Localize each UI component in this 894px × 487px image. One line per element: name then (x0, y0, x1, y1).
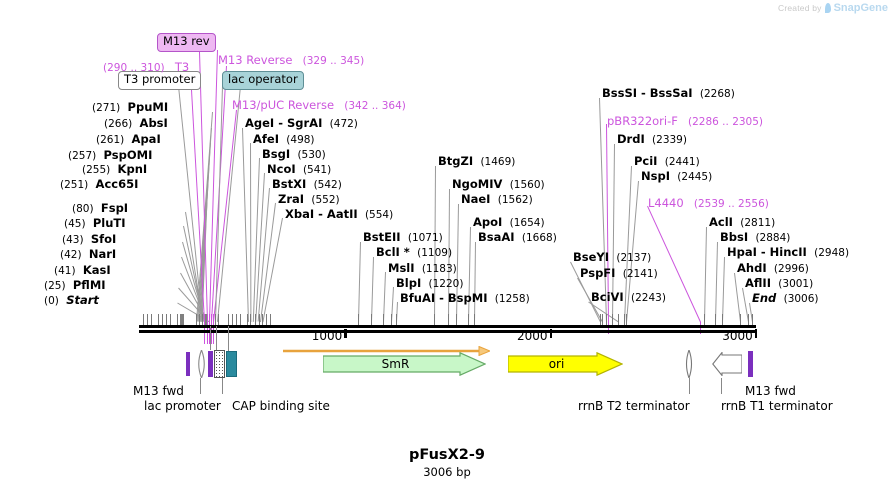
enzyme-name: AclI (709, 215, 733, 229)
plasmid-name: pFusX2-9 (0, 447, 894, 463)
enzyme-position: (2996) (774, 263, 809, 275)
enzyme-name: ApoI (473, 215, 502, 229)
leader-line (722, 257, 725, 322)
enzyme-position: (2141) (623, 268, 658, 280)
enzyme-site-bbsi[interactable]: BbsI (2884) (720, 232, 790, 244)
cap-binding-site-label[interactable]: CAP binding site (232, 399, 330, 413)
enzyme-site-pspomi[interactable]: (257) PspOMI (68, 150, 152, 162)
enzyme-name: PpuMI (128, 100, 169, 114)
feature-connector (721, 378, 722, 394)
enzyme-site-ahdi[interactable]: AhdI (2996) (737, 263, 809, 275)
enzyme-position: (554) (365, 209, 393, 221)
enzyme-site-fspi[interactable]: (80) FspI (72, 203, 128, 215)
enzyme-name: NaeI (461, 192, 490, 206)
enzyme-position: (542) (314, 179, 342, 191)
ruler-label: 2000 (514, 329, 548, 343)
leader-line (178, 86, 203, 322)
enzyme-name: NspI (641, 169, 670, 183)
enzyme-name: AhdI (737, 261, 767, 275)
plasmid-map-canvas: Created by SnapGene M13 revT3 promoterla… (0, 0, 894, 487)
enzyme-site-pluti[interactable]: (45) PluTI (64, 218, 126, 230)
enzyme-name: SfoI (91, 232, 116, 246)
enzyme-name: BclI * (376, 245, 410, 259)
enzyme-position: (552) (311, 194, 339, 206)
enzyme-name: KpnI (118, 162, 148, 176)
enzyme-site-bseyi[interactable]: BseYI (2137) (573, 252, 651, 264)
enzyme-site-nari[interactable]: (42) NarI (60, 249, 116, 261)
gene-label: SmR (323, 352, 486, 376)
enzyme-site-start[interactable]: (0) Start (44, 295, 99, 307)
enzyme-name: BssSI - BssSaI (602, 86, 693, 100)
enzyme-site-acc65i[interactable]: (251) Acc65I (60, 179, 138, 191)
enzyme-position: (41) (54, 265, 76, 277)
rrnb-t2-terminator-label[interactable]: rrnB T2 terminator (578, 399, 690, 413)
leader-line (704, 227, 707, 322)
enzyme-site-absi[interactable]: (266) AbsI (104, 118, 168, 130)
feature-bar-glyph[interactable] (186, 352, 190, 376)
enzyme-name: AflII (745, 276, 771, 290)
enzyme-site-bsssi-bsssai[interactable]: BssSI - BssSaI (2268) (602, 88, 735, 100)
enzyme-position: (1668) (522, 232, 557, 244)
smr-orf-arrow[interactable] (283, 341, 490, 351)
feature-connector (200, 378, 201, 394)
enzyme-site-bcivi[interactable]: BciVI (2243) (591, 292, 666, 304)
enzyme-position: (530) (297, 149, 325, 161)
leader-line (468, 227, 471, 322)
enzyme-position: (261) (96, 134, 124, 146)
enzyme-name: FspI (101, 201, 128, 215)
feature-bar-glyph[interactable] (208, 351, 213, 377)
feature-tag-label: lac operator (228, 72, 298, 86)
enzyme-position: (2948) (814, 247, 849, 259)
enzyme-position: (2884) (755, 232, 790, 244)
enzyme-name: BsaAI (478, 230, 515, 244)
enzyme-site-bfuai-bspmi[interactable]: BfuAI - BspMI (1258) (400, 293, 530, 305)
enzyme-position: (271) (92, 102, 120, 114)
smr-gene[interactable]: SmR (323, 352, 486, 376)
enzyme-name: BtgZI (438, 154, 473, 168)
enzyme-site-bcli[interactable]: BclI * (1109) (376, 247, 452, 259)
enzyme-name: BbsI (720, 230, 748, 244)
ruler-tick (755, 329, 758, 338)
snapgene-leaf-icon (825, 3, 831, 13)
enzyme-name: DrdI (617, 132, 645, 146)
feature-connector (216, 326, 217, 350)
enzyme-site-apai[interactable]: (261) ApaI (96, 134, 161, 146)
enzyme-site-btgzi[interactable]: BtgZI (1469) (438, 156, 515, 168)
enzyme-site-pflmi[interactable]: (25) PflMI (44, 280, 106, 292)
enzyme-site-acli[interactable]: AclI (2811) (709, 217, 775, 229)
enzyme-name: End (752, 291, 776, 305)
primer-name: M13 Reverse (218, 53, 292, 67)
enzyme-name: AbsI (140, 116, 168, 130)
lac-promoter-label[interactable]: lac promoter (144, 399, 221, 413)
enzyme-site-aflii[interactable]: AflII (3001) (745, 278, 813, 290)
enzyme-site-end[interactable]: End (3006) (752, 293, 819, 305)
enzyme-site-bstxi[interactable]: BstXI (542) (272, 179, 342, 191)
leader-line (588, 302, 619, 323)
enzyme-position: (1469) (480, 156, 515, 168)
ruler-label: 3000 (719, 329, 753, 343)
enzyme-position: (1562) (498, 194, 533, 206)
gene-label: ori (508, 352, 623, 376)
m13-puc-reverse-primer[interactable]: M13/pUC Reverse (342 .. 364) (232, 96, 406, 112)
ruler-tick (550, 329, 553, 338)
enzyme-name: HpaI - HincII (727, 245, 807, 259)
feature-connector (689, 378, 690, 394)
feature-hatched-box-glyph[interactable] (214, 350, 225, 378)
enzyme-position: (1654) (510, 217, 545, 229)
primer-range: (290 .. 310) (103, 62, 165, 74)
enzyme-position: (1071) (408, 232, 443, 244)
enzyme-name: BsgI (262, 147, 290, 161)
watermark-prefix: Created by (778, 3, 822, 13)
feature-lens-glyph[interactable] (196, 350, 207, 382)
enzyme-position: (2243) (631, 292, 666, 304)
enzyme-site-msli[interactable]: MslI (1183) (388, 263, 457, 275)
enzyme-site-blpi[interactable]: BlpI (1220) (396, 278, 463, 290)
enzyme-name: BstXI (272, 177, 306, 191)
enzyme-name: BfuAI - BspMI (400, 291, 487, 305)
enzyme-site-bsgi[interactable]: BsgI (530) (262, 149, 326, 161)
enzyme-name: BlpI (396, 276, 421, 290)
enzyme-site-ngomiv[interactable]: NgoMIV (1560) (452, 179, 545, 191)
enzyme-position: (257) (68, 150, 96, 162)
enzyme-position: (251) (60, 179, 88, 191)
enzyme-name: ApaI (132, 132, 161, 146)
enzyme-position: (0) (44, 295, 59, 307)
enzyme-name: NgoMIV (452, 177, 502, 191)
enzyme-name: PciI (634, 154, 657, 168)
leader-line (474, 242, 476, 322)
enzyme-name: XbaI - AatII (285, 207, 358, 221)
enzyme-position: (2137) (616, 252, 651, 264)
leader-line (358, 242, 361, 322)
rrnb-t1-terminator-label[interactable]: rrnB T1 terminator (721, 399, 833, 413)
plasmid-backbone (139, 325, 756, 333)
enzyme-position: (2445) (677, 171, 712, 183)
leader-line (647, 206, 701, 323)
primer-range: (342 .. 364) (344, 100, 406, 112)
enzyme-site-kpni[interactable]: (255) KpnI (82, 164, 147, 176)
enzyme-position: (1560) (510, 179, 545, 191)
ruler-tick (344, 329, 347, 338)
enzyme-name: AfeI (253, 132, 279, 146)
enzyme-position: (1109) (417, 247, 452, 259)
l4440-primer[interactable]: L4440 (2539 .. 2556) (648, 194, 769, 210)
enzyme-position: (42) (60, 249, 82, 261)
enzyme-name: PflMI (73, 278, 106, 292)
enzyme-name: AgeI - SgrAI (245, 116, 322, 130)
feature-tag-label: T3 promoter (124, 72, 195, 86)
enzyme-site-apoi[interactable]: ApoI (1654) (473, 217, 545, 229)
enzyme-position: (2441) (665, 156, 700, 168)
feature-bar-glyph[interactable] (748, 351, 753, 377)
enzyme-site-zrai[interactable]: ZraI (552) (278, 194, 340, 206)
enzyme-name: Acc65I (96, 177, 139, 191)
enzyme-position: (45) (64, 218, 86, 230)
m13-fwd-left-label[interactable]: M13 fwd (133, 384, 184, 398)
enzyme-position: (3001) (778, 278, 813, 290)
primer-name: M13/pUC Reverse (232, 98, 334, 112)
enzyme-position: (25) (44, 280, 66, 292)
enzyme-position: (43) (62, 234, 84, 246)
enzyme-site-ppumi[interactable]: (271) PpuMI (92, 102, 168, 114)
enzyme-site-bsaai[interactable]: BsaAI (1668) (478, 232, 557, 244)
enzyme-position: (541) (303, 164, 331, 176)
enzyme-site-kasi[interactable]: (41) KasI (54, 265, 111, 277)
primer-range: (329 .. 345) (303, 55, 365, 67)
enzyme-site-drdi[interactable]: DrdI (2339) (617, 134, 687, 146)
enzyme-position: (3006) (784, 293, 819, 305)
enzyme-name: BstEII (363, 230, 401, 244)
enzyme-position: (255) (82, 164, 110, 176)
enzyme-site-pspfi[interactable]: PspFI (2141) (580, 268, 658, 280)
enzyme-site-agei-sgrai[interactable]: AgeI - SgrAI (472) (245, 118, 358, 130)
enzyme-position: (2339) (652, 134, 687, 146)
leader-line (250, 143, 251, 322)
feature-left-arrow-glyph[interactable] (712, 352, 742, 380)
enzyme-name: PspOMI (104, 148, 153, 162)
leader-line (242, 128, 249, 322)
enzyme-name: MslI (388, 261, 415, 275)
enzyme-site-pcii[interactable]: PciI (2441) (634, 156, 700, 168)
enzyme-site-xbai-aatii[interactable]: XbaI - AatII (554) (285, 209, 393, 221)
enzyme-position: (80) (72, 203, 94, 215)
enzyme-name: NarI (89, 247, 116, 261)
enzyme-position: (472) (330, 118, 358, 130)
snapgene-watermark: Created by SnapGene (778, 2, 888, 14)
primer-range: (2539 .. 2556) (694, 198, 769, 210)
watermark-brand: SnapGene (834, 2, 888, 14)
enzyme-position: (2268) (700, 88, 735, 100)
pbr322ori-f-primer[interactable]: pBR322ori-F (2286 .. 2305) (607, 112, 763, 128)
enzyme-position: (266) (104, 118, 132, 130)
enzyme-position: (1220) (429, 278, 464, 290)
primer-name: L4440 (648, 196, 684, 210)
enzyme-name: BseYI (573, 250, 609, 264)
enzyme-name: KasI (83, 263, 111, 277)
enzyme-site-hpai-hincii[interactable]: HpaI - HincII (2948) (727, 247, 849, 259)
enzyme-site-afei[interactable]: AfeI (498) (253, 134, 315, 146)
leader-line (715, 242, 718, 322)
m13-reverse-primer[interactable]: M13 Reverse (329 .. 345) (218, 51, 364, 67)
enzyme-name: ZraI (278, 192, 304, 206)
feature-tag-label: M13 rev (163, 34, 210, 48)
enzyme-site-nspi[interactable]: NspI (2445) (641, 171, 712, 183)
enzyme-name: NcoI (267, 162, 296, 176)
lac-operator-tag[interactable]: lac operator (222, 71, 304, 90)
enzyme-name: BciVI (591, 290, 624, 304)
enzyme-position: (2811) (740, 217, 775, 229)
enzyme-site-naei[interactable]: NaeI (1562) (461, 194, 533, 206)
backbone-strand-top (139, 325, 756, 328)
enzyme-site-sfoi[interactable]: (43) SfoI (62, 234, 116, 246)
primer-range: (2286 .. 2305) (688, 116, 763, 128)
enzyme-name: Start (66, 293, 99, 307)
plasmid-size: 3006 bp (0, 465, 894, 479)
primer-name: T3 (175, 60, 189, 74)
enzyme-site-ncoi[interactable]: NcoI (541) (267, 164, 331, 176)
ori-gene[interactable]: ori (508, 352, 623, 376)
m13-fwd-right-label[interactable]: M13 fwd (745, 384, 796, 398)
enzyme-position: (1183) (422, 263, 457, 275)
feature-box-glyph[interactable] (226, 351, 237, 377)
m13-rev-tag[interactable]: M13 rev (157, 33, 216, 52)
enzyme-name: PspFI (580, 266, 615, 280)
enzyme-position: (498) (286, 134, 314, 146)
feature-connector (210, 326, 211, 350)
enzyme-name: PluTI (93, 216, 126, 230)
enzyme-position: (1258) (495, 293, 530, 305)
primer-name: pBR322ori-F (607, 114, 678, 128)
backbone-strand-bottom (139, 330, 756, 333)
leader-line (371, 257, 374, 322)
t3-primer[interactable]: (290 .. 310) T3 (103, 58, 189, 74)
feature-connector (228, 326, 229, 351)
enzyme-site-bsteii[interactable]: BstEII (1071) (363, 232, 443, 244)
feature-connector (222, 378, 223, 394)
